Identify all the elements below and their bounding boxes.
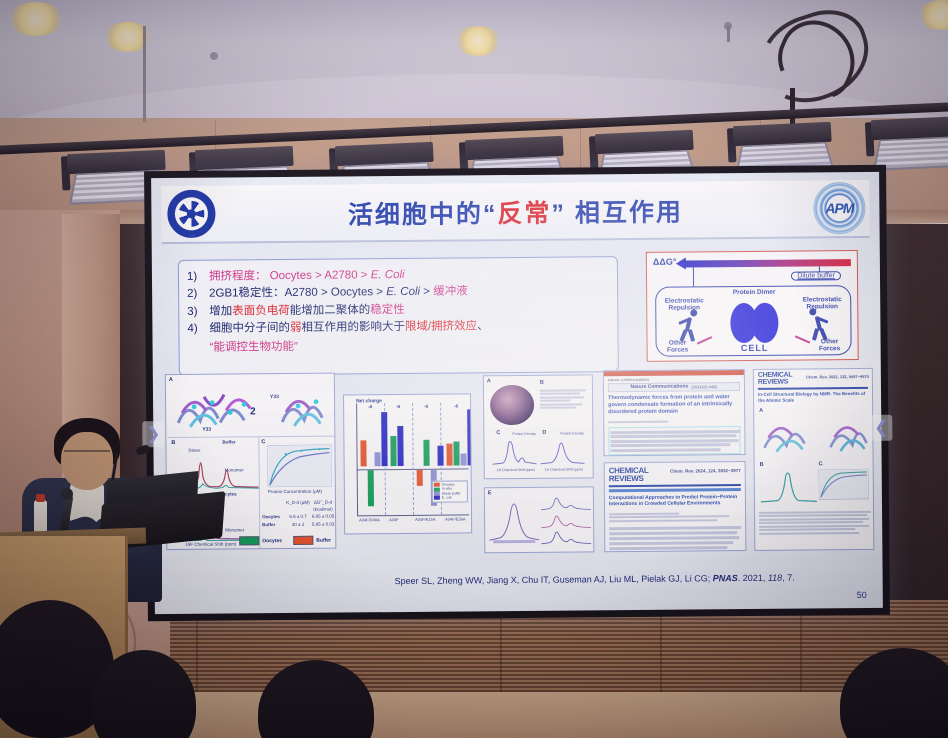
label-protein-density-right: Protein Density — [560, 431, 584, 436]
broad-peak-spectrum — [489, 496, 539, 544]
ceiling-downlight — [8, 2, 64, 36]
table-row-label: Buffer — [262, 521, 286, 528]
nmr-spectrum-in-cell — [761, 469, 817, 503]
bullet-text: 拥挤程度： Oocytes > A2780 > E. Coli — [209, 267, 405, 286]
kd-table: K_D-d (µM)ΔG°_D-d (kcal/mol) Oocytes6.5 … — [262, 499, 336, 528]
slide-nav-prev-arrow[interactable]: ❮ — [870, 415, 892, 441]
stick-figure-right — [802, 308, 828, 338]
cell-boundary: Protein Dimer Electrostatic Repulsion El… — [655, 285, 852, 357]
bar — [390, 436, 396, 466]
spectrum-right — [540, 435, 584, 465]
bar-group-label: A34F/E15A — [415, 517, 436, 522]
spectrum-left — [492, 436, 536, 466]
label-y33-bottom: Y33 — [202, 427, 211, 433]
axis-label-chemical-shift: 19F Chemical Shift (ppm) — [185, 541, 236, 547]
panel-letter-b: B — [540, 380, 544, 386]
journal-name: CHEMICAL REVIEWS — [758, 373, 802, 387]
bar-group-label: A34F/D40A — [359, 517, 380, 522]
legend-label-buffer: Buffer — [316, 538, 331, 544]
label-monomer-peak-buffer: Monomer — [225, 467, 244, 473]
slide-title-quote-open: “ — [483, 200, 498, 228]
water-bottle-cap — [36, 494, 45, 502]
stage-floor — [130, 692, 948, 738]
protein-dimer-icon — [730, 303, 778, 343]
binding-curve-plot — [267, 445, 331, 488]
bullet-number: 4) — [187, 321, 209, 339]
projected-slide: 活细胞中的“反常” 相互作用 APM 1) 拥挤程度： Oocytes > A2… — [151, 172, 883, 614]
cell-thermodynamics-diagram: ΔΔG° Dilute buffer Protein Dimer Electro… — [646, 250, 859, 362]
panel-letter-b: B — [760, 462, 764, 468]
slide-title-accent: 反常 — [497, 200, 551, 228]
bullet-text: 细胞中分子间的弱相互作用的影响大于限域/拥挤效应、 — [209, 319, 488, 339]
slide-title: 活细胞中的“反常” 相互作用 — [348, 193, 683, 232]
bullet-number: 2) — [187, 286, 209, 304]
bar — [397, 426, 403, 466]
journal-id: (2024)15:4402 — [691, 384, 717, 389]
apm-logo-text: APM — [825, 200, 853, 216]
bullet-subline: “能调控生物功能” — [188, 335, 612, 355]
bar-chart-y-axis — [356, 403, 358, 515]
journal-name: Nature Communications — [631, 384, 689, 391]
fig-cell-micrograph-spectra: A B C Protein Density D — [483, 374, 594, 479]
other-forces-label-left: Other Forces — [659, 339, 697, 354]
axis-label-protein-concentration: Protein Concentration (µM) — [268, 489, 322, 495]
bar — [381, 412, 387, 466]
sprinkler-head — [210, 52, 218, 60]
free-energy-gradient-arrow — [685, 259, 851, 267]
table-header-dg: ΔG°_D-d (kcal/mol) — [310, 499, 336, 514]
article-title: Thermodynamic forces from protein and wa… — [608, 394, 742, 416]
article-title: Computational Approaches to Predict Prot… — [609, 494, 743, 508]
bar — [461, 453, 467, 465]
label-buffer: Buffer — [222, 439, 235, 445]
citation-rest: . 2021, — [738, 573, 768, 583]
fig-chemical-reviews-2024-article: CHEMICAL REVIEWS Chem. Rev. 2024, 124, 3… — [604, 461, 747, 552]
journal-citation: Chem. Rev. 2022, 122, 9497−9570 — [806, 374, 869, 380]
citation-volume: 118 — [768, 573, 782, 583]
bar — [467, 409, 471, 465]
bar — [368, 470, 374, 506]
slide-page-number: 50 — [857, 590, 867, 600]
table-header-kd: K_D-d (µM) — [286, 499, 310, 514]
bar-group-label: A34F/E56A — [445, 516, 466, 521]
presenter-face — [61, 432, 113, 490]
bar — [360, 440, 366, 466]
bar — [375, 452, 381, 466]
slide-header: 活细胞中的“反常” 相互作用 — [161, 180, 869, 244]
slide-title-quote-close: ” — [551, 200, 566, 228]
lecture-hall-photo: 活细胞中的“反常” 相互作用 APM 1) 拥挤程度： Oocytes > A2… — [0, 0, 948, 738]
bullet-list-box: 1) 拥挤程度： Oocytes > A2780 > E. Coli 2) 2G… — [178, 256, 619, 376]
bullet-text: 增加表面负电荷能增加二聚体的稳定性 — [209, 302, 405, 321]
bar — [453, 442, 459, 466]
nature-comms-journal: nature communications — [608, 377, 649, 382]
saturation-curve — [819, 469, 869, 503]
panel-letter-a: A — [169, 377, 173, 383]
citation-authors: Speer SL, Zheng WW, Jiang X, Chu IT, Gus… — [395, 573, 713, 586]
bar — [417, 470, 423, 486]
label-y33-top: Y33 — [270, 394, 279, 400]
protein-dimer-label: Protein Dimer — [718, 289, 790, 297]
legend-label: E. coli — [442, 496, 452, 500]
bar-net-charge-value: -6 — [424, 404, 428, 410]
bullet-number: 3) — [187, 304, 209, 322]
bar — [446, 444, 452, 466]
bar-net-charge-value: -6 — [396, 404, 400, 410]
ceiling-rod — [727, 26, 730, 42]
bar-net-charge-value: -6 — [454, 404, 458, 410]
legend-swatch-oocytes — [239, 536, 259, 545]
other-forces-label-right: Other Forces — [811, 338, 849, 353]
panel-letter-a: A — [487, 378, 491, 384]
article-title: In-Cell Structural Biology by NMR: The B… — [758, 391, 870, 403]
fig-net-charge-bar-chart: Net charge -8 A34F/D40A — [343, 393, 472, 534]
slide-citation: Speer SL, Zheng WW, Jiang X, Chu IT, Gus… — [395, 573, 795, 586]
cell-label: CELL — [731, 342, 779, 353]
bar — [437, 446, 443, 466]
panel-letter-c: C — [261, 439, 265, 445]
microphone-head — [61, 488, 73, 500]
axis-label-shift: 1H Chemical Shift (ppm) — [497, 468, 535, 473]
citation-journal: PNAS — [713, 573, 738, 583]
citation-tail: , 7. — [782, 573, 795, 583]
stick-figure-left — [678, 309, 704, 339]
label-monomer-peak-oocytes: Monomer — [225, 527, 244, 533]
apm-logo-icon: APM — [813, 182, 865, 234]
cell-micrograph-image — [490, 385, 534, 425]
fig-chemical-reviews-2022-article: CHEMICAL REVIEWS Chem. Rev. 2022, 122, 9… — [753, 368, 875, 551]
bullet-text: 2GB1稳定性：A2780 > Oocytes > E. Coli > 缓冲液 — [209, 284, 468, 304]
bar — [423, 440, 429, 466]
legend-label-oocytes: Oocytes — [262, 538, 282, 544]
water-bottle — [34, 500, 47, 534]
journal-citation: Chem. Rev. 2024, 124, 3932−3977 — [670, 468, 741, 474]
stacked-spectra — [541, 493, 591, 547]
bullet-number: 1) — [187, 269, 209, 287]
slide-title-suffix: 相互作用 — [575, 199, 683, 228]
legend-swatch-buffer — [293, 536, 313, 545]
slide-title-prefix: 活细胞中的 — [348, 200, 483, 229]
university-seal-logo-icon — [167, 190, 215, 238]
ceiling-downlight — [456, 26, 500, 56]
bar-net-charge-value: -8 — [368, 404, 372, 410]
label-dimer-count: 2 — [250, 406, 256, 419]
fig-spectra-series: E — [484, 486, 595, 553]
journal-name: CHEMICAL REVIEWS — [609, 467, 659, 483]
dilute-buffer-label: Dilute buffer — [791, 271, 841, 280]
figure-strip: A — [161, 368, 875, 564]
free-energy-label: ΔΔG° — [653, 257, 677, 267]
fig-nature-communications-article: nature communications Nature Communicati… — [603, 369, 746, 456]
bar-group-label: A34F — [389, 517, 399, 522]
presenter-glasses — [64, 450, 110, 459]
protein-ribbon-structures — [760, 413, 868, 458]
projection-screen-frame: 活细胞中的“反常” 相互作用 APM 1) 拥挤程度： Oocytes > A2… — [144, 165, 890, 621]
panel-letter-c: C — [819, 461, 823, 467]
ceiling-rod — [143, 26, 146, 122]
label-protein-density-left: Protein Density — [512, 432, 536, 437]
axis-label-shift: 1H Chemical Shift (ppm) — [545, 467, 583, 472]
label-dimer-peak-buffer: Dimer — [188, 448, 200, 454]
